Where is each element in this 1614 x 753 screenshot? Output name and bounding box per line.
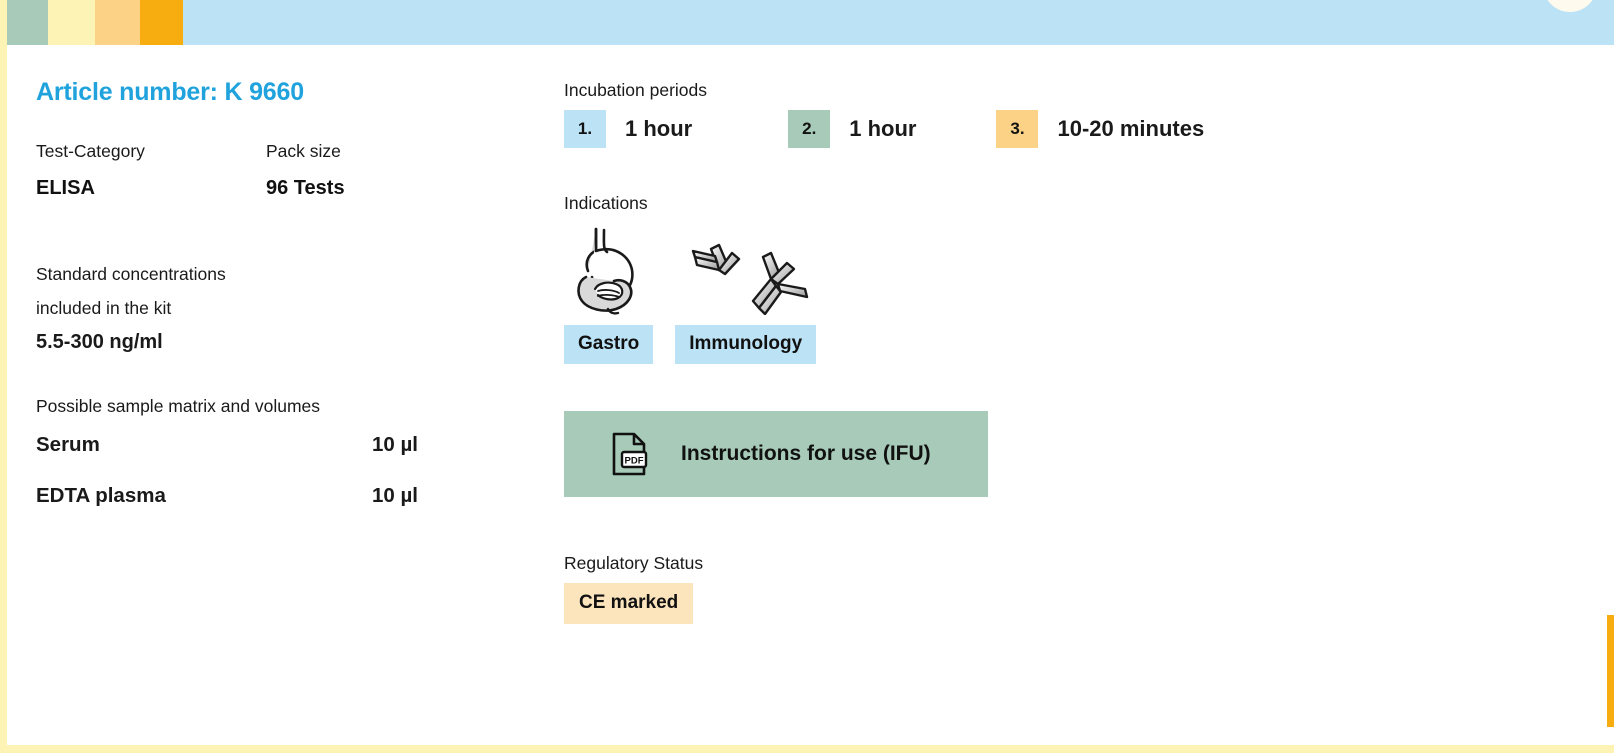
indication-label: Immunology bbox=[675, 325, 816, 364]
indications-title: Indications bbox=[564, 193, 1564, 214]
pack-size-value: 96 Tests bbox=[266, 174, 496, 203]
left-frame-edge bbox=[0, 0, 7, 753]
sample-matrix-name: Serum bbox=[36, 433, 372, 457]
table-row: Serum 10 µl bbox=[36, 433, 418, 457]
indication-item-immunology[interactable]: Immunology bbox=[675, 223, 825, 364]
test-category-label: Test-Category bbox=[36, 139, 266, 164]
spacer bbox=[36, 360, 516, 396]
incubation-periods-title: Incubation periods bbox=[564, 80, 1564, 101]
test-category-value: ELISA bbox=[36, 174, 266, 203]
pack-size-label: Pack size bbox=[266, 139, 496, 164]
indications-block: Indications bbox=[564, 193, 1564, 364]
standard-concentrations-block: Standard concentrations included in the … bbox=[36, 258, 516, 360]
indication-label: Gastro bbox=[564, 325, 653, 364]
incubation-step-duration: 1 hour bbox=[849, 116, 916, 142]
ribbon-swatch-cream bbox=[48, 0, 95, 45]
svg-text:PDF: PDF bbox=[625, 456, 644, 467]
regulatory-status-title: Regulatory Status bbox=[564, 553, 1564, 574]
spec-labels-row: Test-Category Pack size bbox=[36, 139, 516, 164]
incubation-step: 1. 1 hour bbox=[564, 110, 692, 148]
instructions-for-use-label: Instructions for use (IFU) bbox=[681, 442, 931, 466]
incubation-step-number: 2. bbox=[788, 110, 830, 148]
incubation-step-number: 3. bbox=[996, 110, 1038, 148]
sample-matrix-volume: 10 µl bbox=[372, 484, 418, 508]
instructions-for-use-button[interactable]: PDF Instructions for use (IFU) bbox=[564, 411, 988, 497]
standard-concentrations-label-line2: included in the kit bbox=[36, 292, 516, 325]
standard-concentrations-label-line1: Standard concentrations bbox=[36, 258, 516, 291]
spacer bbox=[36, 213, 516, 258]
incubation-step: 2. 1 hour bbox=[788, 110, 916, 148]
sample-matrix-volume: 10 µl bbox=[372, 433, 418, 457]
status-badge: CE marked bbox=[564, 583, 693, 624]
sample-matrix-name: EDTA plasma bbox=[36, 484, 372, 508]
product-details-column: Incubation periods 1. 1 hour 2. 1 hour 3… bbox=[564, 80, 1564, 624]
regulatory-status-block: Regulatory Status CE marked bbox=[564, 553, 1564, 624]
indications-list: Gastro bbox=[564, 223, 1564, 364]
pdf-file-icon: PDF bbox=[610, 432, 648, 476]
incubation-step-number: 1. bbox=[564, 110, 606, 148]
product-specs-column: Article number: K 9660 Test-Category Pac… bbox=[36, 78, 516, 535]
antibody-icon bbox=[675, 223, 825, 315]
ribbon-swatch-blue bbox=[183, 0, 1614, 45]
product-detail-panel: Article number: K 9660 Test-Category Pac… bbox=[0, 0, 1614, 753]
article-number: Article number: K 9660 bbox=[36, 78, 516, 107]
incubation-step-duration: 10-20 minutes bbox=[1057, 116, 1204, 142]
vertical-scrollbar-thumb[interactable] bbox=[1607, 615, 1614, 727]
vertical-scrollbar-track[interactable] bbox=[1607, 45, 1614, 745]
table-row: EDTA plasma 10 µl bbox=[36, 484, 418, 508]
sample-matrix-title: Possible sample matrix and volumes bbox=[36, 396, 516, 417]
indication-item-gastro[interactable]: Gastro bbox=[564, 223, 653, 364]
ribbon-swatch-sand bbox=[95, 0, 140, 45]
ribbon-swatch-orange bbox=[140, 0, 183, 45]
incubation-step-duration: 1 hour bbox=[625, 116, 692, 142]
ribbon-swatch-green bbox=[0, 0, 48, 45]
incubation-step: 3. 10-20 minutes bbox=[996, 110, 1204, 148]
sample-matrix-block: Possible sample matrix and volumes Serum… bbox=[36, 396, 516, 508]
color-ribbon bbox=[0, 0, 1614, 45]
incubation-steps: 1. 1 hour 2. 1 hour 3. 10-20 minutes bbox=[564, 110, 1564, 148]
bottom-frame-edge bbox=[0, 745, 1614, 753]
incubation-periods-block: Incubation periods 1. 1 hour 2. 1 hour 3… bbox=[564, 80, 1564, 148]
standard-concentrations-value: 5.5-300 ng/ml bbox=[36, 325, 516, 360]
spec-values-row: ELISA 96 Tests bbox=[36, 174, 516, 203]
stomach-intestine-icon bbox=[564, 223, 653, 315]
